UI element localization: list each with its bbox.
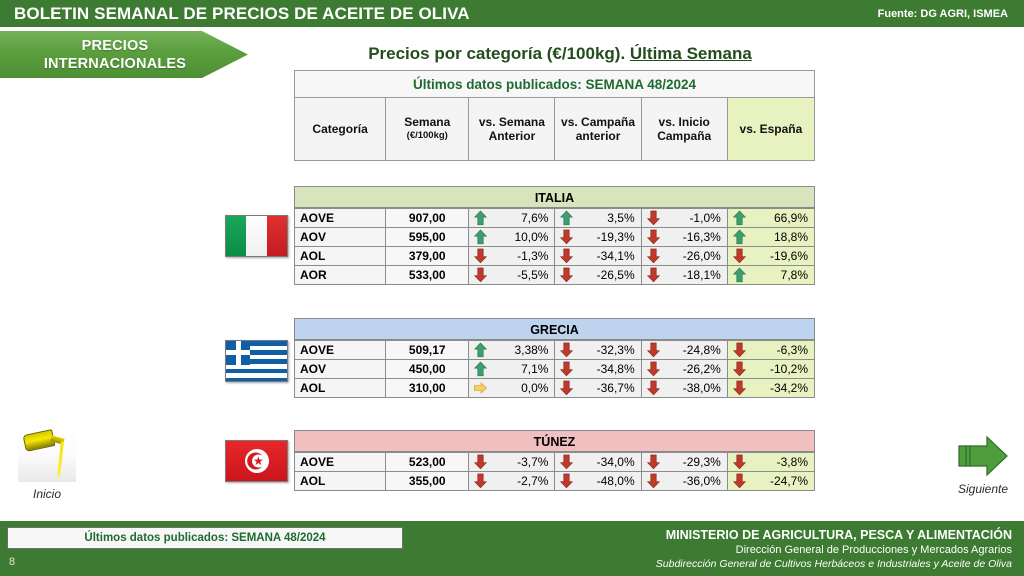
italy-flag-icon [225,215,288,257]
cell-precio-semana: 533,00 [386,266,469,285]
cell-categoria: AOV [295,360,386,379]
cell-vs-campana-anterior: -34,0% [555,453,641,472]
table-row: AOVE907,007,6%3,5%-1,0%66,9% [295,209,815,228]
banner-line-2: INTERNACIONALES [44,55,204,73]
table-row: AOL310,000,0%-36,7%-38,0%-34,2% [295,379,815,398]
down-arrow-icon [560,249,573,264]
percent-value: -36,7% [597,381,635,395]
cell-vs-semana-anterior: -3,7% [469,453,555,472]
greece-flag-icon [225,340,288,382]
price-table-túnez: AOVE523,00-3,7%-34,0%-29,3%-3,8%AOL355,0… [294,452,815,491]
country-block-túnez: TÚNEZAOVE523,00-3,7%-34,0%-29,3%-3,8%AOL… [294,430,815,491]
percent-value: -38,0% [683,381,721,395]
cell-categoria: AOL [295,247,386,266]
percent-value: -5,5% [517,268,548,282]
up-arrow-icon [733,211,746,226]
down-arrow-icon [647,211,660,226]
percent-value: 0,0% [521,381,548,395]
cell-vs-semana-anterior: 0,0% [469,379,555,398]
up-arrow-icon [474,230,487,245]
col-header-vs-semana-anterior: vs. Semana Anterior [469,98,555,161]
cell-vs-semana-anterior: 7,6% [469,209,555,228]
bulletin-title: BOLETIN SEMANAL DE PRECIOS DE ACEITE DE … [0,4,470,24]
percent-value: -2,7% [517,474,548,488]
ministry-directorate: Dirección General de Producciones y Merc… [452,543,1012,557]
down-arrow-icon [733,381,746,396]
cell-vs-espana: 18,8% [727,228,814,247]
percent-value: -18,1% [683,268,721,282]
price-table-italia: AOVE907,007,6%3,5%-1,0%66,9%AOV595,0010,… [294,208,815,285]
cell-vs-semana-anterior: 7,1% [469,360,555,379]
percent-value: 7,1% [521,362,548,376]
cell-vs-espana: -10,2% [727,360,814,379]
percent-value: -34,1% [597,249,635,263]
down-arrow-icon [733,455,746,470]
cell-vs-espana: -34,2% [727,379,814,398]
country-title-italia: ITALIA [294,186,815,208]
table-header-row: Categoría Semana (€/100kg) vs. Semana An… [295,98,815,161]
down-arrow-icon [647,249,660,264]
percent-value: -19,6% [770,249,808,263]
cell-precio-semana: 379,00 [386,247,469,266]
cell-vs-campana-anterior: -34,8% [555,360,641,379]
down-arrow-icon [733,343,746,358]
table-column-header: Últimos datos publicados: SEMANA 48/2024… [294,70,815,161]
percent-value: -24,7% [770,474,808,488]
down-arrow-icon [733,362,746,377]
percent-value: -19,3% [597,230,635,244]
down-arrow-icon [560,474,573,489]
nav-next-button[interactable]: Siguiente [950,435,1016,496]
table-row: AOR533,00-5,5%-26,5%-18,1%7,8% [295,266,815,285]
up-arrow-icon [560,211,573,226]
nav-home-button[interactable]: Inicio [14,420,80,501]
cell-vs-inicio-campana: -16,3% [641,228,727,247]
cell-categoria: AOL [295,379,386,398]
cell-vs-inicio-campana: -38,0% [641,379,727,398]
cell-vs-espana: -19,6% [727,247,814,266]
percent-value: -10,2% [770,362,808,376]
percent-value: 3,5% [607,211,634,225]
percent-value: 7,8% [781,268,808,282]
percent-value: -34,2% [770,381,808,395]
cell-vs-semana-anterior: 10,0% [469,228,555,247]
cell-vs-inicio-campana: -36,0% [641,472,727,491]
percent-value: -32,3% [597,343,635,357]
percent-value: 10,0% [514,230,548,244]
down-arrow-icon [560,230,573,245]
cell-precio-semana: 509,17 [386,341,469,360]
down-arrow-icon [560,268,573,283]
page-number: 8 [9,556,15,568]
up-arrow-icon [474,211,487,226]
cell-vs-inicio-campana: -29,3% [641,453,727,472]
ministry-subdirectorate: Subdirección General de Cultivos Herbáce… [452,557,1012,571]
percent-value: -1,0% [689,211,720,225]
table-row: AOL379,00-1,3%-34,1%-26,0%-19,6% [295,247,815,266]
cell-vs-semana-anterior: -1,3% [469,247,555,266]
page-title-prefix: Precios por categoría (€/100kg). [368,44,630,63]
percent-value: -26,5% [597,268,635,282]
col-header-semana: Semana (€/100kg) [386,98,469,161]
flat-arrow-icon [474,381,487,396]
cell-vs-campana-anterior: -34,1% [555,247,641,266]
table-row: AOVE509,173,38%-32,3%-24,8%-6,3% [295,341,815,360]
right-arrow-icon [957,435,1009,477]
page-title: Precios por categoría (€/100kg). Última … [300,44,820,64]
down-arrow-icon [733,249,746,264]
cell-vs-espana: -3,8% [727,453,814,472]
col-header-categoria-label: Categoría [312,122,367,136]
col-header-vs-inicio-campana: vs. Inicio Campaña [641,98,727,161]
percent-value: -6,3% [777,343,808,357]
down-arrow-icon [647,230,660,245]
percent-value: -3,8% [777,455,808,469]
cell-vs-espana: 66,9% [727,209,814,228]
percent-value: -3,7% [517,455,548,469]
cell-precio-semana: 595,00 [386,228,469,247]
last-published-caption: Últimos datos publicados: SEMANA 48/2024 [295,71,815,98]
col-header-semana-label: Semana [404,115,450,129]
cell-vs-espana: 7,8% [727,266,814,285]
percent-value: -24,8% [683,343,721,357]
cell-vs-campana-anterior: -32,3% [555,341,641,360]
cell-vs-campana-anterior: -36,7% [555,379,641,398]
up-arrow-icon [474,343,487,358]
app-header-bar: BOLETIN SEMANAL DE PRECIOS DE ACEITE DE … [0,0,1024,27]
down-arrow-icon [560,362,573,377]
cell-vs-campana-anterior: -48,0% [555,472,641,491]
cell-vs-semana-anterior: -5,5% [469,266,555,285]
table-row: AOL355,00-2,7%-48,0%-36,0%-24,7% [295,472,815,491]
cell-vs-semana-anterior: 3,38% [469,341,555,360]
tunisia-flag-icon: ★ [225,440,288,482]
country-title-túnez: TÚNEZ [294,430,815,452]
col-header-semana-unit: (€/100kg) [388,129,466,143]
cell-vs-semana-anterior: -2,7% [469,472,555,491]
cell-categoria: AOL [295,472,386,491]
percent-value: 7,6% [521,211,548,225]
ministry-name: MINISTERIO DE AGRICULTURA, PESCA Y ALIME… [452,528,1012,543]
nav-home-label: Inicio [14,487,80,501]
footer-last-published-box: Últimos datos publicados: SEMANA 48/2024 [7,527,403,549]
cell-categoria: AOVE [295,209,386,228]
percent-value: 66,9% [774,211,808,225]
up-arrow-icon [733,230,746,245]
down-arrow-icon [474,268,487,283]
down-arrow-icon [647,474,660,489]
olive-oil-bottle-icon [18,420,76,482]
country-title-grecia: GRECIA [294,318,815,340]
col-header-categoria: Categoría [295,98,386,161]
down-arrow-icon [474,249,487,264]
page-title-emphasis: Última Semana [630,44,752,63]
cell-vs-campana-anterior: 3,5% [555,209,641,228]
cell-precio-semana: 523,00 [386,453,469,472]
country-block-grecia: GRECIAAOVE509,173,38%-32,3%-24,8%-6,3%AO… [294,318,815,398]
price-table-grecia: AOVE509,173,38%-32,3%-24,8%-6,3%AOV450,0… [294,340,815,398]
cell-vs-inicio-campana: -18,1% [641,266,727,285]
section-banner-precios-internacionales[interactable]: PRECIOS INTERNACIONALES [0,31,248,78]
banner-line-1: PRECIOS [82,37,167,55]
table-row: AOVE523,00-3,7%-34,0%-29,3%-3,8% [295,453,815,472]
percent-value: -34,0% [597,455,635,469]
percent-value: -26,0% [683,249,721,263]
down-arrow-icon [647,362,660,377]
percent-value: 3,38% [514,343,548,357]
cell-vs-campana-anterior: -19,3% [555,228,641,247]
percent-value: -48,0% [597,474,635,488]
cell-categoria: AOVE [295,453,386,472]
down-arrow-icon [647,343,660,358]
cell-precio-semana: 355,00 [386,472,469,491]
down-arrow-icon [647,455,660,470]
percent-value: -34,8% [597,362,635,376]
percent-value: 18,8% [774,230,808,244]
down-arrow-icon [647,381,660,396]
down-arrow-icon [560,343,573,358]
cell-precio-semana: 907,00 [386,209,469,228]
table-row: AOV450,007,1%-34,8%-26,2%-10,2% [295,360,815,379]
down-arrow-icon [560,455,573,470]
cell-vs-espana: -6,3% [727,341,814,360]
percent-value: -26,2% [683,362,721,376]
percent-value: -29,3% [683,455,721,469]
table-caption-row: Últimos datos publicados: SEMANA 48/2024 [295,71,815,98]
down-arrow-icon [474,474,487,489]
cell-precio-semana: 450,00 [386,360,469,379]
country-block-italia: ITALIAAOVE907,007,6%3,5%-1,0%66,9%AOV595… [294,186,815,285]
source-label: Fuente: DG AGRI, ISMEA [878,8,1024,20]
cell-vs-inicio-campana: -1,0% [641,209,727,228]
cell-vs-campana-anterior: -26,5% [555,266,641,285]
up-arrow-icon [733,268,746,283]
cell-vs-inicio-campana: -24,8% [641,341,727,360]
cell-precio-semana: 310,00 [386,379,469,398]
percent-value: -36,0% [683,474,721,488]
cell-categoria: AOV [295,228,386,247]
percent-value: -1,3% [517,249,548,263]
cell-vs-espana: -24,7% [727,472,814,491]
nav-next-label: Siguiente [950,482,1016,496]
cell-categoria: AOVE [295,341,386,360]
cell-vs-inicio-campana: -26,0% [641,247,727,266]
ministry-credits: MINISTERIO DE AGRICULTURA, PESCA Y ALIME… [452,528,1012,571]
up-arrow-icon [474,362,487,377]
col-header-vs-campana-anterior: vs. Campaña anterior [555,98,641,161]
down-arrow-icon [733,474,746,489]
col-header-vs-espana: vs. España [727,98,814,161]
down-arrow-icon [647,268,660,283]
down-arrow-icon [474,455,487,470]
table-row: AOV595,0010,0%-19,3%-16,3%18,8% [295,228,815,247]
cell-categoria: AOR [295,266,386,285]
cell-vs-inicio-campana: -26,2% [641,360,727,379]
percent-value: -16,3% [683,230,721,244]
down-arrow-icon [560,381,573,396]
